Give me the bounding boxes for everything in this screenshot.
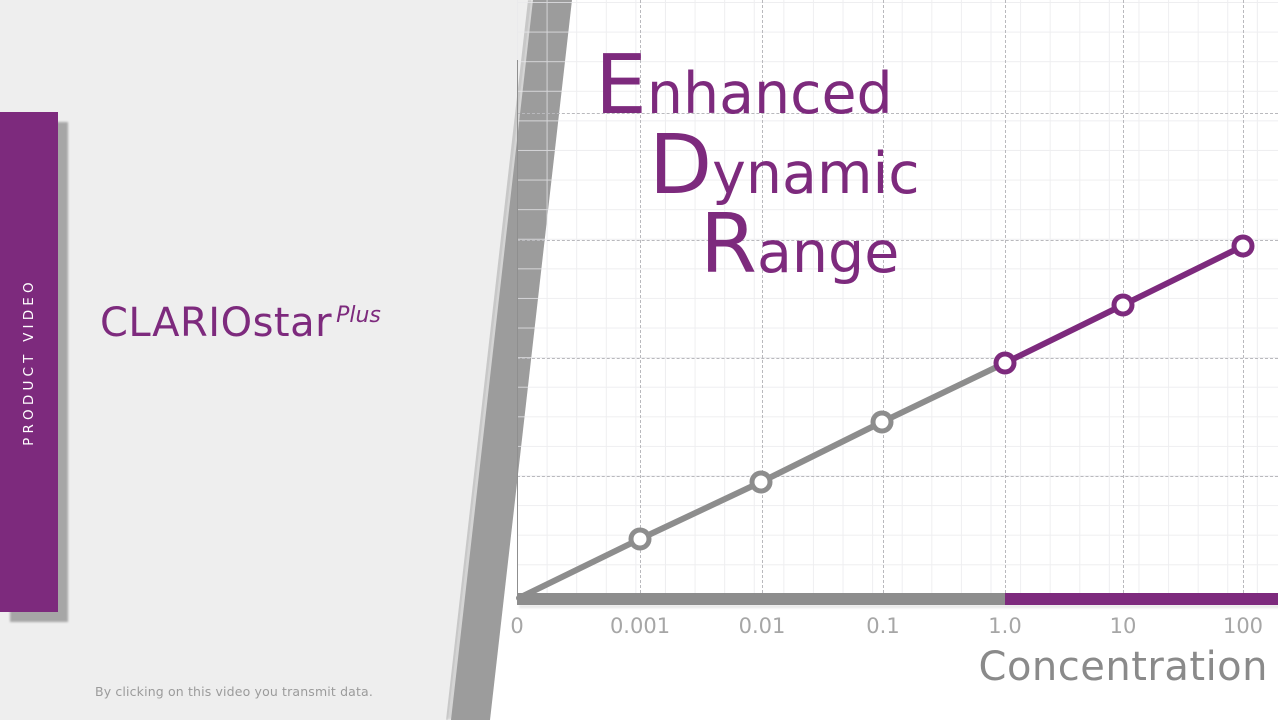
x-tick-label: 0 — [510, 614, 523, 638]
headline-cap-e: E — [595, 38, 647, 133]
headline-rest-3: ange — [757, 220, 899, 286]
x-axis-bar-shadow — [519, 605, 1278, 608]
page-title: CLARIOstarPlus — [100, 300, 381, 346]
headline-line-2: Dynamic — [649, 126, 920, 206]
product-suffix: Plus — [336, 303, 381, 328]
headline-line-3: Range — [700, 205, 920, 285]
x-axis-bar-extended — [1005, 593, 1278, 605]
data-point-marker — [873, 413, 891, 431]
x-tick-label: 0.01 — [739, 614, 786, 638]
video-disclaimer: By clicking on this video you transmit d… — [95, 684, 373, 699]
data-point-marker — [1114, 296, 1132, 314]
x-tick-label: 0.1 — [866, 614, 899, 638]
x-axis-bar-standard — [517, 593, 1005, 605]
data-point-marker — [752, 473, 770, 491]
data-point-marker — [631, 530, 649, 548]
headline-edr: Enhanced Dynamic Range — [595, 46, 920, 285]
x-tick-label: 100 — [1223, 614, 1263, 638]
ribbon-label: PRODUCT VIDEO — [0, 112, 58, 612]
product-name: CLARIOstar — [100, 300, 332, 346]
headline-cap-r: R — [700, 197, 757, 292]
data-point-marker — [1234, 237, 1252, 255]
data-point-marker — [996, 354, 1014, 372]
x-tick-label: 1.0 — [988, 614, 1021, 638]
x-tick-label: 0.001 — [610, 614, 670, 638]
x-tick-label: 10 — [1110, 614, 1137, 638]
slide-canvas: PRODUCT VIDEO CLARIOstarPlus By clicking… — [0, 0, 1278, 720]
x-axis-title: Concentration — [979, 644, 1268, 690]
headline-line-1: Enhanced — [595, 46, 920, 126]
